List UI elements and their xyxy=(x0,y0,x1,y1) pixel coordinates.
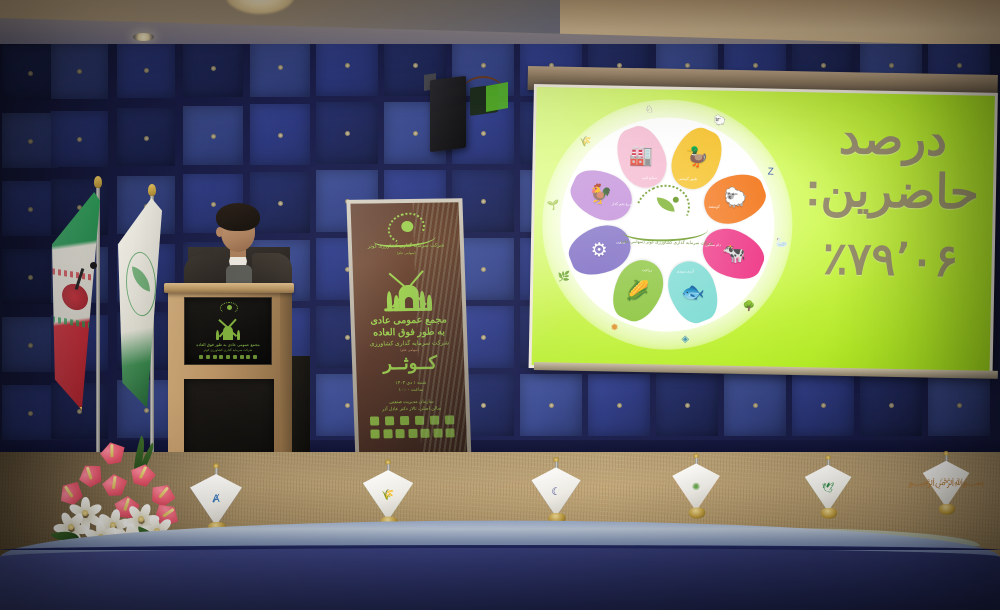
iran-flag-cloth xyxy=(52,192,100,410)
flag-finial xyxy=(94,176,102,188)
ear xyxy=(216,227,223,237)
hair xyxy=(216,203,260,231)
podium-sign-logo xyxy=(211,302,245,314)
flag-stand xyxy=(939,504,955,515)
crescent-logo: ☾ xyxy=(545,481,568,502)
table-flag-6: ﷽ xyxy=(921,455,973,522)
podium-sign-line1: مجمع عمومی عادی به طور فوق العاده xyxy=(185,342,271,347)
podium-sign-sponsor-icon xyxy=(246,355,250,359)
windmill-icon xyxy=(215,316,241,340)
loudspeaker-icon xyxy=(430,76,466,152)
podium-top xyxy=(164,283,294,293)
flag-stand xyxy=(821,508,837,519)
podium-sign-sponsor-icon xyxy=(206,355,210,359)
podium-sign-sponsor-icon xyxy=(213,355,217,359)
podium-sign: مجمع عمومی عادی به طور فوق العاده شرکت س… xyxy=(184,297,272,365)
event-rollup-banner[interactable]: شرکت سرمایه گذاری کشاورزی کوثر (سهامی عا… xyxy=(351,202,468,461)
green-equipment-marker xyxy=(486,82,508,112)
podium-sign-sponsor-icon xyxy=(219,355,223,359)
podium-sign-sponsor-icons xyxy=(199,355,257,360)
projection-screen-surface: 🏭صنایع لبنی🦆طیور گوشتی🐑گوسفند🐄دام سنگین🐟… xyxy=(532,87,995,374)
microphone-icon xyxy=(90,262,97,269)
podium-sign-sponsor-icon xyxy=(199,355,203,359)
podium-sign-sponsor-icon xyxy=(233,355,237,359)
anthurium-flower xyxy=(96,439,130,468)
photo-scene: 🏭صنایع لبنی🦆طیور گوشتی🐑گوسفند🐄دام سنگین🐟… xyxy=(0,0,1000,610)
logo-seed-icon xyxy=(227,305,232,310)
bird-logo: 🕊 xyxy=(817,477,839,497)
anthurium-flower xyxy=(99,472,131,497)
company-flag-cloth xyxy=(118,198,162,408)
screen-glare xyxy=(532,87,995,374)
podium-right-edge xyxy=(280,291,292,475)
table-flag-4: ✺ xyxy=(670,458,723,526)
podium-sign-sponsor-icon xyxy=(253,355,257,359)
banner-face: شرکت سرمایه گذاری کشاورزی کوثر (سهامی عا… xyxy=(351,202,468,461)
projection-screen[interactable]: 🏭صنایع لبنی🦆طیور گوشتی🐑گوسفند🐄دام سنگین🐟… xyxy=(529,84,998,377)
anthurium-flower xyxy=(126,461,160,489)
pinwheel-logo: ✺ xyxy=(685,476,707,496)
flag-stand xyxy=(689,508,706,519)
script-logo: ﷽ xyxy=(935,473,957,493)
podium-sign-line2: شرکت سرمایه گذاری کشاورزی کوثر xyxy=(185,348,271,352)
table-flag-5: 🕊 xyxy=(803,459,855,526)
podium-sign-sponsor-icon xyxy=(240,355,244,359)
banner-sheen xyxy=(351,202,468,461)
grain-logo: 🌾 xyxy=(376,484,399,505)
podium-sign-sponsor-icon xyxy=(226,355,230,359)
flag-fringe xyxy=(52,407,100,410)
downlight-icon xyxy=(133,33,154,41)
flag-finial xyxy=(148,184,156,196)
stage-front-sheen xyxy=(0,548,1000,610)
